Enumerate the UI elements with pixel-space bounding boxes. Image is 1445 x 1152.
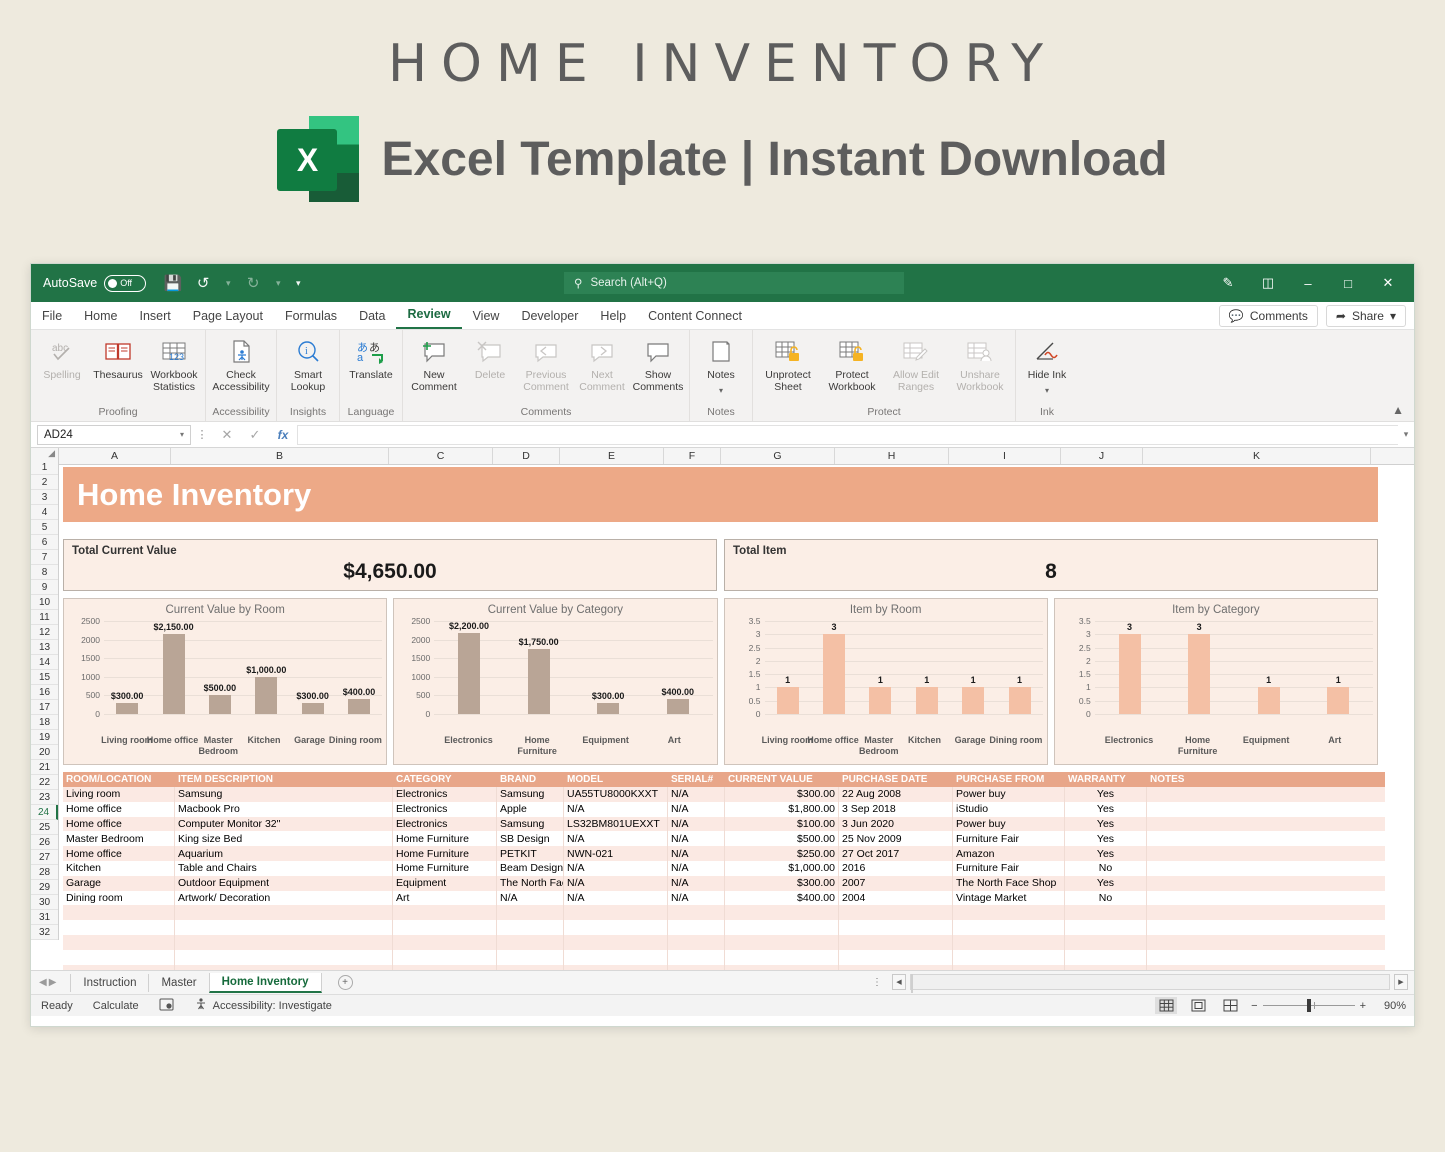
chevron-up-icon[interactable]: ▲: [1392, 403, 1404, 417]
column-header-G[interactable]: G: [721, 448, 835, 464]
table-cell[interactable]: [668, 950, 725, 965]
table-cell[interactable]: No: [1065, 861, 1147, 876]
table-cell[interactable]: $300.00: [725, 787, 839, 802]
table-cell[interactable]: [1147, 787, 1375, 802]
comments-button[interactable]: 💬 Comments: [1219, 305, 1318, 327]
table-cell[interactable]: Outdoor Equipment: [175, 876, 393, 891]
tab-split-handle[interactable]: ⋮: [872, 977, 882, 988]
save-icon[interactable]: 💾: [160, 271, 186, 295]
table-cell[interactable]: Yes: [1065, 817, 1147, 832]
row-header-18[interactable]: 18: [31, 715, 58, 730]
ribbon-display-icon[interactable]: ◫: [1248, 264, 1288, 302]
column-header-A[interactable]: A: [59, 448, 171, 464]
table-cell[interactable]: 3 Sep 2018: [839, 802, 953, 817]
table-cell[interactable]: [63, 935, 175, 950]
table-cell[interactable]: [953, 935, 1065, 950]
tab-page-layout[interactable]: Page Layout: [182, 306, 274, 329]
page-layout-view-icon[interactable]: [1187, 997, 1209, 1014]
chart-bar-column[interactable]: $1,750.00: [509, 621, 569, 714]
table-cell[interactable]: N/A: [668, 876, 725, 891]
table-cell[interactable]: Vintage Market: [953, 891, 1065, 906]
select-all-corner[interactable]: ◢: [31, 448, 59, 460]
row-header-4[interactable]: 4: [31, 505, 58, 520]
table-cell[interactable]: Power buy: [953, 787, 1065, 802]
tab-developer[interactable]: Developer: [510, 306, 589, 329]
ribbon-group-label-accessibility: Accessibility: [209, 406, 273, 421]
sheet-tab-home-inventory[interactable]: Home Inventory: [209, 973, 322, 993]
table-cell[interactable]: [1147, 831, 1375, 846]
table-cell[interactable]: [1147, 817, 1375, 832]
row-header-29[interactable]: 29: [31, 880, 58, 895]
table-cell[interactable]: $250.00: [725, 846, 839, 861]
table-cell[interactable]: 3 Jun 2020: [839, 817, 953, 832]
table-cell[interactable]: [175, 950, 393, 965]
table-cell[interactable]: [1147, 876, 1375, 891]
hscroll-right-icon[interactable]: ▶: [1394, 974, 1408, 990]
tab-help[interactable]: Help: [589, 306, 637, 329]
table-column-header[interactable]: CATEGORY: [393, 772, 497, 787]
table-cell[interactable]: Yes: [1065, 831, 1147, 846]
table-cell[interactable]: [1147, 950, 1375, 965]
chart-bar-column[interactable]: $2,200.00: [439, 621, 499, 714]
table-cell[interactable]: No: [1065, 891, 1147, 906]
column-header-E[interactable]: E: [560, 448, 664, 464]
chart-bar: [1009, 687, 1031, 714]
table-cell[interactable]: Yes: [1065, 787, 1147, 802]
table-cell[interactable]: $100.00: [725, 817, 839, 832]
row-header-22[interactable]: 22: [31, 775, 58, 790]
table-row[interactable]: KitchenTable and ChairsHome FurnitureBea…: [63, 861, 1385, 876]
table-row[interactable]: [63, 920, 1385, 935]
table-column-header[interactable]: ITEM DESCRIPTION: [175, 772, 393, 787]
table-cell[interactable]: Samsung: [497, 817, 564, 832]
table-cell[interactable]: [564, 920, 668, 935]
table-row[interactable]: Home officeAquariumHome FurniturePETKITN…: [63, 846, 1385, 861]
right-arrow-icon[interactable]: ▶: [49, 977, 57, 988]
table-row[interactable]: GarageOutdoor EquipmentEquipmentThe Nort…: [63, 876, 1385, 891]
table-cell[interactable]: [175, 920, 393, 935]
table-cell[interactable]: Macbook Pro: [175, 802, 393, 817]
table-row[interactable]: [63, 950, 1385, 965]
table-cell[interactable]: [1147, 920, 1375, 935]
row-header-9[interactable]: 9: [31, 580, 58, 595]
table-cell[interactable]: [725, 920, 839, 935]
left-arrow-icon[interactable]: ◀: [39, 977, 47, 988]
table-cell[interactable]: Samsung: [497, 787, 564, 802]
column-header-F[interactable]: F: [664, 448, 721, 464]
hide-ink-button[interactable]: Hide Ink ▾: [1019, 335, 1075, 398]
table-cell[interactable]: N/A: [668, 861, 725, 876]
undo-icon[interactable]: ↺: [190, 271, 216, 295]
autosave-toggle[interactable]: AutoSave Off: [43, 275, 146, 292]
table-column-header[interactable]: NOTES: [1147, 772, 1375, 787]
column-header-C[interactable]: C: [389, 448, 493, 464]
table-column-header[interactable]: MODEL: [564, 772, 668, 787]
row-header-10[interactable]: 10: [31, 595, 58, 610]
row-header-8[interactable]: 8: [31, 565, 58, 580]
table-cell[interactable]: Home office: [63, 817, 175, 832]
maximize-button[interactable]: □: [1328, 264, 1368, 302]
table-cell[interactable]: [839, 935, 953, 950]
translate-button[interactable]: あaあ Translate: [343, 335, 399, 384]
row-header-14[interactable]: 14: [31, 655, 58, 670]
table-cell[interactable]: [564, 935, 668, 950]
table-cell[interactable]: [1147, 935, 1375, 950]
table-cell[interactable]: The North Face Shop: [953, 876, 1065, 891]
table-cell[interactable]: Garage: [63, 876, 175, 891]
record-macro-icon[interactable]: [149, 998, 184, 1014]
accessibility-status[interactable]: Accessibility: Investigate: [184, 997, 342, 1014]
table-cell[interactable]: [63, 950, 175, 965]
chart-bar-column[interactable]: 3: [1169, 621, 1229, 714]
redo-dropdown-icon[interactable]: ▾: [270, 271, 286, 295]
chart-bar-column[interactable]: 1: [1308, 621, 1368, 714]
table-cell[interactable]: Master Bedroom: [63, 831, 175, 846]
table-cell[interactable]: N/A: [564, 891, 668, 906]
spelling-button[interactable]: abc Spelling: [34, 335, 90, 384]
table-cell[interactable]: N/A: [668, 787, 725, 802]
row-header-5[interactable]: 5: [31, 520, 58, 535]
row-header-3[interactable]: 3: [31, 490, 58, 505]
row-header-7[interactable]: 7: [31, 550, 58, 565]
allow-edit-ranges-button[interactable]: Allow Edit Ranges: [884, 335, 948, 395]
table-cell[interactable]: [63, 920, 175, 935]
chart-bar-column[interactable]: 1: [1239, 621, 1299, 714]
row-header-30[interactable]: 30: [31, 895, 58, 910]
tab-review[interactable]: Review: [396, 304, 461, 329]
table-cell[interactable]: Yes: [1065, 876, 1147, 891]
table-cell[interactable]: [564, 905, 668, 920]
table-cell[interactable]: N/A: [668, 802, 725, 817]
table-cell[interactable]: [497, 920, 564, 935]
add-sheet-button[interactable]: +: [338, 975, 353, 990]
tab-data[interactable]: Data: [348, 306, 396, 329]
zoom-slider[interactable]: − +: [1251, 1000, 1366, 1012]
table-row[interactable]: Master BedroomKing size BedHome Furnitur…: [63, 831, 1385, 846]
tab-content-connect[interactable]: Content Connect: [637, 306, 753, 329]
table-cell[interactable]: N/A: [497, 891, 564, 906]
table-cell[interactable]: [497, 935, 564, 950]
undo-dropdown-icon[interactable]: ▾: [220, 271, 236, 295]
table-row[interactable]: [63, 935, 1385, 950]
table-cell[interactable]: Home Furniture: [393, 846, 497, 861]
ribbon-group-label-protect: Protect: [756, 406, 1012, 421]
table-cell[interactable]: The North Face: [497, 876, 564, 891]
chart-current-value-by-category[interactable]: Current Value by Category050010001500200…: [393, 598, 717, 765]
row-header-19[interactable]: 19: [31, 730, 58, 745]
table-cell[interactable]: [175, 905, 393, 920]
row-header-15[interactable]: 15: [31, 670, 58, 685]
zoom-out-button[interactable]: −: [1251, 1000, 1257, 1012]
table-cell[interactable]: [1147, 802, 1375, 817]
svg-text:123: 123: [169, 352, 184, 362]
table-cell[interactable]: Yes: [1065, 846, 1147, 861]
chart-bar-column[interactable]: 1: [990, 621, 1048, 714]
table-cell[interactable]: Electronics: [393, 817, 497, 832]
protect-workbook-button[interactable]: Protect Workbook: [820, 335, 884, 395]
table-cell[interactable]: [1147, 905, 1375, 920]
table-cell[interactable]: N/A: [564, 861, 668, 876]
table-cell[interactable]: Equipment: [393, 876, 497, 891]
table-cell[interactable]: $500.00: [725, 831, 839, 846]
row-header-28[interactable]: 28: [31, 865, 58, 880]
new-comment-button[interactable]: New Comment: [406, 335, 462, 395]
column-header-B[interactable]: B: [171, 448, 389, 464]
chart-bar-column[interactable]: $400.00: [648, 621, 708, 714]
table-cell[interactable]: $1,800.00: [725, 802, 839, 817]
formula-input[interactable]: [297, 425, 1398, 445]
hide-ink-chevron-down-icon[interactable]: ▾: [1045, 385, 1049, 397]
excel-logo-letter: X: [277, 129, 337, 191]
check-icon[interactable]: ✓: [241, 427, 269, 443]
thesaurus-button[interactable]: Thesaurus: [90, 335, 146, 384]
pen-icon[interactable]: ✎: [1208, 264, 1248, 302]
zoom-track[interactable]: [1263, 1005, 1355, 1006]
table-cell[interactable]: King size Bed: [175, 831, 393, 846]
zoom-knob[interactable]: [1307, 999, 1311, 1012]
table-cell[interactable]: [725, 950, 839, 965]
table-cell[interactable]: Yes: [1065, 802, 1147, 817]
minimize-button[interactable]: –: [1288, 264, 1328, 302]
table-cell[interactable]: SB Design: [497, 831, 564, 846]
table-cell[interactable]: Home Furniture: [393, 831, 497, 846]
delete-comment-button[interactable]: Delete: [462, 335, 518, 384]
table-cell[interactable]: [668, 920, 725, 935]
table-cell[interactable]: N/A: [564, 802, 668, 817]
table-cell[interactable]: [668, 935, 725, 950]
show-comments-button[interactable]: Show Comments: [630, 335, 686, 395]
column-header-J[interactable]: J: [1061, 448, 1143, 464]
table-cell[interactable]: Furniture Fair: [953, 861, 1065, 876]
table-row[interactable]: Home officeComputer Monitor 32"Electroni…: [63, 817, 1385, 832]
hscroll-left-icon[interactable]: ◀: [892, 974, 906, 990]
svg-text:i: i: [305, 346, 308, 357]
tab-insert[interactable]: Insert: [129, 306, 182, 329]
table-column-header[interactable]: CURRENT VALUE: [725, 772, 839, 787]
unprotect-sheet-button[interactable]: Unprotect Sheet: [756, 335, 820, 395]
table-cell[interactable]: [564, 950, 668, 965]
table-cell[interactable]: [839, 905, 953, 920]
table-cell[interactable]: [953, 905, 1065, 920]
ribbon-tabs: File Home Insert Page Layout Formulas Da…: [31, 302, 1414, 330]
next-comment-button[interactable]: Next Comment: [574, 335, 630, 395]
row-header-17[interactable]: 17: [31, 700, 58, 715]
table-cell[interactable]: [63, 905, 175, 920]
row-header-31[interactable]: 31: [31, 910, 58, 925]
fx-icon[interactable]: fx: [269, 428, 297, 442]
row-header-25[interactable]: 25: [31, 820, 58, 835]
share-button[interactable]: ➦ Share ▾: [1326, 305, 1406, 327]
table-row[interactable]: Living roomSamsungElectronicsSamsungUA55…: [63, 787, 1385, 802]
page-break-view-icon[interactable]: [1219, 997, 1241, 1014]
zoom-level[interactable]: 90%: [1376, 1000, 1406, 1012]
table-cell[interactable]: [1065, 905, 1147, 920]
table-cell[interactable]: $1,000.00: [725, 861, 839, 876]
table-cell[interactable]: [1147, 861, 1375, 876]
row-header-21[interactable]: 21: [31, 760, 58, 775]
table-cell[interactable]: Art: [393, 891, 497, 906]
table-cell[interactable]: 2016: [839, 861, 953, 876]
tab-view[interactable]: View: [462, 306, 511, 329]
table-cell[interactable]: PETKIT: [497, 846, 564, 861]
table-cell[interactable]: Artwork/ Decoration: [175, 891, 393, 906]
formula-bar-expand-icon[interactable]: ▾: [1398, 429, 1414, 440]
table-row[interactable]: Dining roomArtwork/ DecorationArtN/AN/AN…: [63, 891, 1385, 906]
table-cell[interactable]: $300.00: [725, 876, 839, 891]
table-cell[interactable]: Beam Design: [497, 861, 564, 876]
row-header-23[interactable]: 23: [31, 790, 58, 805]
table-cell[interactable]: Electronics: [393, 802, 497, 817]
table-cell[interactable]: 2007: [839, 876, 953, 891]
table-cell[interactable]: LS32BM801UEXXT: [564, 817, 668, 832]
table-column-header[interactable]: BRAND: [497, 772, 564, 787]
table-cell[interactable]: Home office: [63, 802, 175, 817]
row-header-26[interactable]: 26: [31, 835, 58, 850]
name-box-chevron-down-icon[interactable]: ▾: [180, 430, 184, 439]
chart-bar-column[interactable]: 3: [1100, 621, 1160, 714]
row-header-2[interactable]: 2: [31, 475, 58, 490]
column-header-H[interactable]: H: [835, 448, 949, 464]
chart-current-value-by-room[interactable]: Current Value by Room0500100015002000250…: [63, 598, 387, 765]
table-cell[interactable]: Power buy: [953, 817, 1065, 832]
table-cell[interactable]: [725, 905, 839, 920]
table-cell[interactable]: Aquarium: [175, 846, 393, 861]
table-cell[interactable]: Table and Chairs: [175, 861, 393, 876]
table-cell[interactable]: [497, 950, 564, 965]
row-header-12[interactable]: 12: [31, 625, 58, 640]
table-cell[interactable]: [839, 950, 953, 965]
table-cell[interactable]: 25 Nov 2009: [839, 831, 953, 846]
chart-bar-column[interactable]: $300.00: [578, 621, 638, 714]
table-cell[interactable]: Computer Monitor 32": [175, 817, 393, 832]
table-cell[interactable]: Furniture Fair: [953, 831, 1065, 846]
table-cell[interactable]: N/A: [668, 817, 725, 832]
table-cell[interactable]: [393, 950, 497, 965]
table-cell[interactable]: [497, 905, 564, 920]
table-cell[interactable]: N/A: [564, 831, 668, 846]
sheet-canvas[interactable]: Home Inventory Total Current Value $4,65…: [59, 465, 1415, 970]
row-header-6[interactable]: 6: [31, 535, 58, 550]
table-cell[interactable]: Dining room: [63, 891, 175, 906]
previous-comment-button[interactable]: Previous Comment: [518, 335, 574, 395]
check-accessibility-button[interactable]: Check Accessibility: [209, 335, 273, 395]
redo-icon[interactable]: ↻: [240, 271, 266, 295]
table-cell[interactable]: UA55TU8000KXXT: [564, 787, 668, 802]
table-cell[interactable]: N/A: [564, 876, 668, 891]
table-cell[interactable]: [839, 920, 953, 935]
tab-file[interactable]: File: [31, 306, 73, 329]
chart-bar-column[interactable]: $400.00: [329, 621, 387, 714]
row-header-13[interactable]: 13: [31, 640, 58, 655]
table-cell[interactable]: Kitchen: [63, 861, 175, 876]
column-header-D[interactable]: D: [493, 448, 560, 464]
table-cell[interactable]: [1147, 846, 1375, 861]
sheet-tab-master[interactable]: Master: [148, 974, 208, 992]
close-button[interactable]: ✕: [1368, 264, 1408, 302]
table-column-header[interactable]: SERIAL#: [668, 772, 725, 787]
table-column-header[interactable]: WARRANTY: [1065, 772, 1147, 787]
sheet-tab-instruction[interactable]: Instruction: [70, 974, 148, 992]
table-cell[interactable]: N/A: [668, 831, 725, 846]
table-cell[interactable]: 2004: [839, 891, 953, 906]
chart-item-by-room[interactable]: Item by Room00.511.522.533.5131111Living…: [724, 598, 1048, 765]
notes-button[interactable]: Notes ▾: [693, 335, 749, 398]
row-header-27[interactable]: 27: [31, 850, 58, 865]
table-cell[interactable]: [1065, 935, 1147, 950]
column-header-K[interactable]: K: [1143, 448, 1371, 464]
table-column-header[interactable]: ROOM/LOCATION: [63, 772, 175, 787]
row-header-16[interactable]: 16: [31, 685, 58, 700]
column-header-I[interactable]: I: [949, 448, 1061, 464]
table-cell[interactable]: N/A: [668, 891, 725, 906]
table-cell[interactable]: 27 Oct 2017: [839, 846, 953, 861]
tab-home[interactable]: Home: [73, 306, 128, 329]
table-cell[interactable]: Apple: [497, 802, 564, 817]
smart-lookup-button[interactable]: i Smart Lookup: [280, 335, 336, 395]
autosave-switch[interactable]: Off: [104, 275, 146, 292]
table-cell[interactable]: NWN-021: [564, 846, 668, 861]
search-input[interactable]: ⚲ Search (Alt+Q): [564, 272, 904, 294]
unshare-workbook-button[interactable]: Unshare Workbook: [948, 335, 1012, 395]
table-row[interactable]: [63, 905, 1385, 920]
table-cell[interactable]: Home office: [63, 846, 175, 861]
customize-qat-icon[interactable]: ▾: [290, 271, 306, 295]
row-header-1[interactable]: 1: [31, 460, 58, 475]
table-column-header[interactable]: PURCHASE DATE: [839, 772, 953, 787]
table-cell[interactable]: [953, 920, 1065, 935]
row-header-20[interactable]: 20: [31, 745, 58, 760]
ribbon-group-insights: i Smart Lookup Insights: [276, 330, 339, 421]
table-cell[interactable]: [953, 950, 1065, 965]
table-header-row: ROOM/LOCATIONITEM DESCRIPTIONCATEGORYBRA…: [63, 772, 1385, 787]
table-cell[interactable]: [393, 935, 497, 950]
table-row[interactable]: Home officeMacbook ProElectronicsAppleN/…: [63, 802, 1385, 817]
table-cell[interactable]: [1065, 950, 1147, 965]
table-cell[interactable]: [393, 920, 497, 935]
table-cell[interactable]: Home Furniture: [393, 861, 497, 876]
table-cell[interactable]: Samsung: [175, 787, 393, 802]
horizontal-scrollbar[interactable]: [910, 974, 1390, 990]
table-cell[interactable]: Electronics: [393, 787, 497, 802]
zoom-in-button[interactable]: +: [1360, 1000, 1366, 1012]
workbook-statistics-button[interactable]: 123 Workbook Statistics: [146, 335, 202, 395]
table-cell[interactable]: $400.00: [725, 891, 839, 906]
chart-item-by-category[interactable]: Item by Category00.511.522.533.53311Elec…: [1054, 598, 1378, 765]
table-cell[interactable]: iStudio: [953, 802, 1065, 817]
cancel-icon[interactable]: ✕: [213, 427, 241, 443]
table-cell[interactable]: [725, 935, 839, 950]
row-header-24[interactable]: 24: [31, 805, 58, 820]
row-header-11[interactable]: 11: [31, 610, 58, 625]
normal-view-icon[interactable]: [1155, 997, 1177, 1014]
table-cell[interactable]: [668, 905, 725, 920]
column-header-L[interactable]: L: [1371, 448, 1415, 464]
tab-formulas[interactable]: Formulas: [274, 306, 348, 329]
table-cell[interactable]: [175, 935, 393, 950]
notes-chevron-down-icon[interactable]: ▾: [719, 385, 723, 397]
table-cell[interactable]: Amazon: [953, 846, 1065, 861]
table-column-header[interactable]: PURCHASE FROM: [953, 772, 1065, 787]
table-cell[interactable]: N/A: [668, 846, 725, 861]
table-cell[interactable]: 22 Aug 2008: [839, 787, 953, 802]
table-cell[interactable]: Living room: [63, 787, 175, 802]
table-cell[interactable]: [393, 905, 497, 920]
name-box[interactable]: AD24 ▾: [37, 425, 191, 445]
row-header-32[interactable]: 32: [31, 925, 58, 940]
table-cell[interactable]: [1065, 920, 1147, 935]
horizontal-scroll-thumb[interactable]: [911, 974, 913, 993]
table-cell[interactable]: [1147, 891, 1375, 906]
